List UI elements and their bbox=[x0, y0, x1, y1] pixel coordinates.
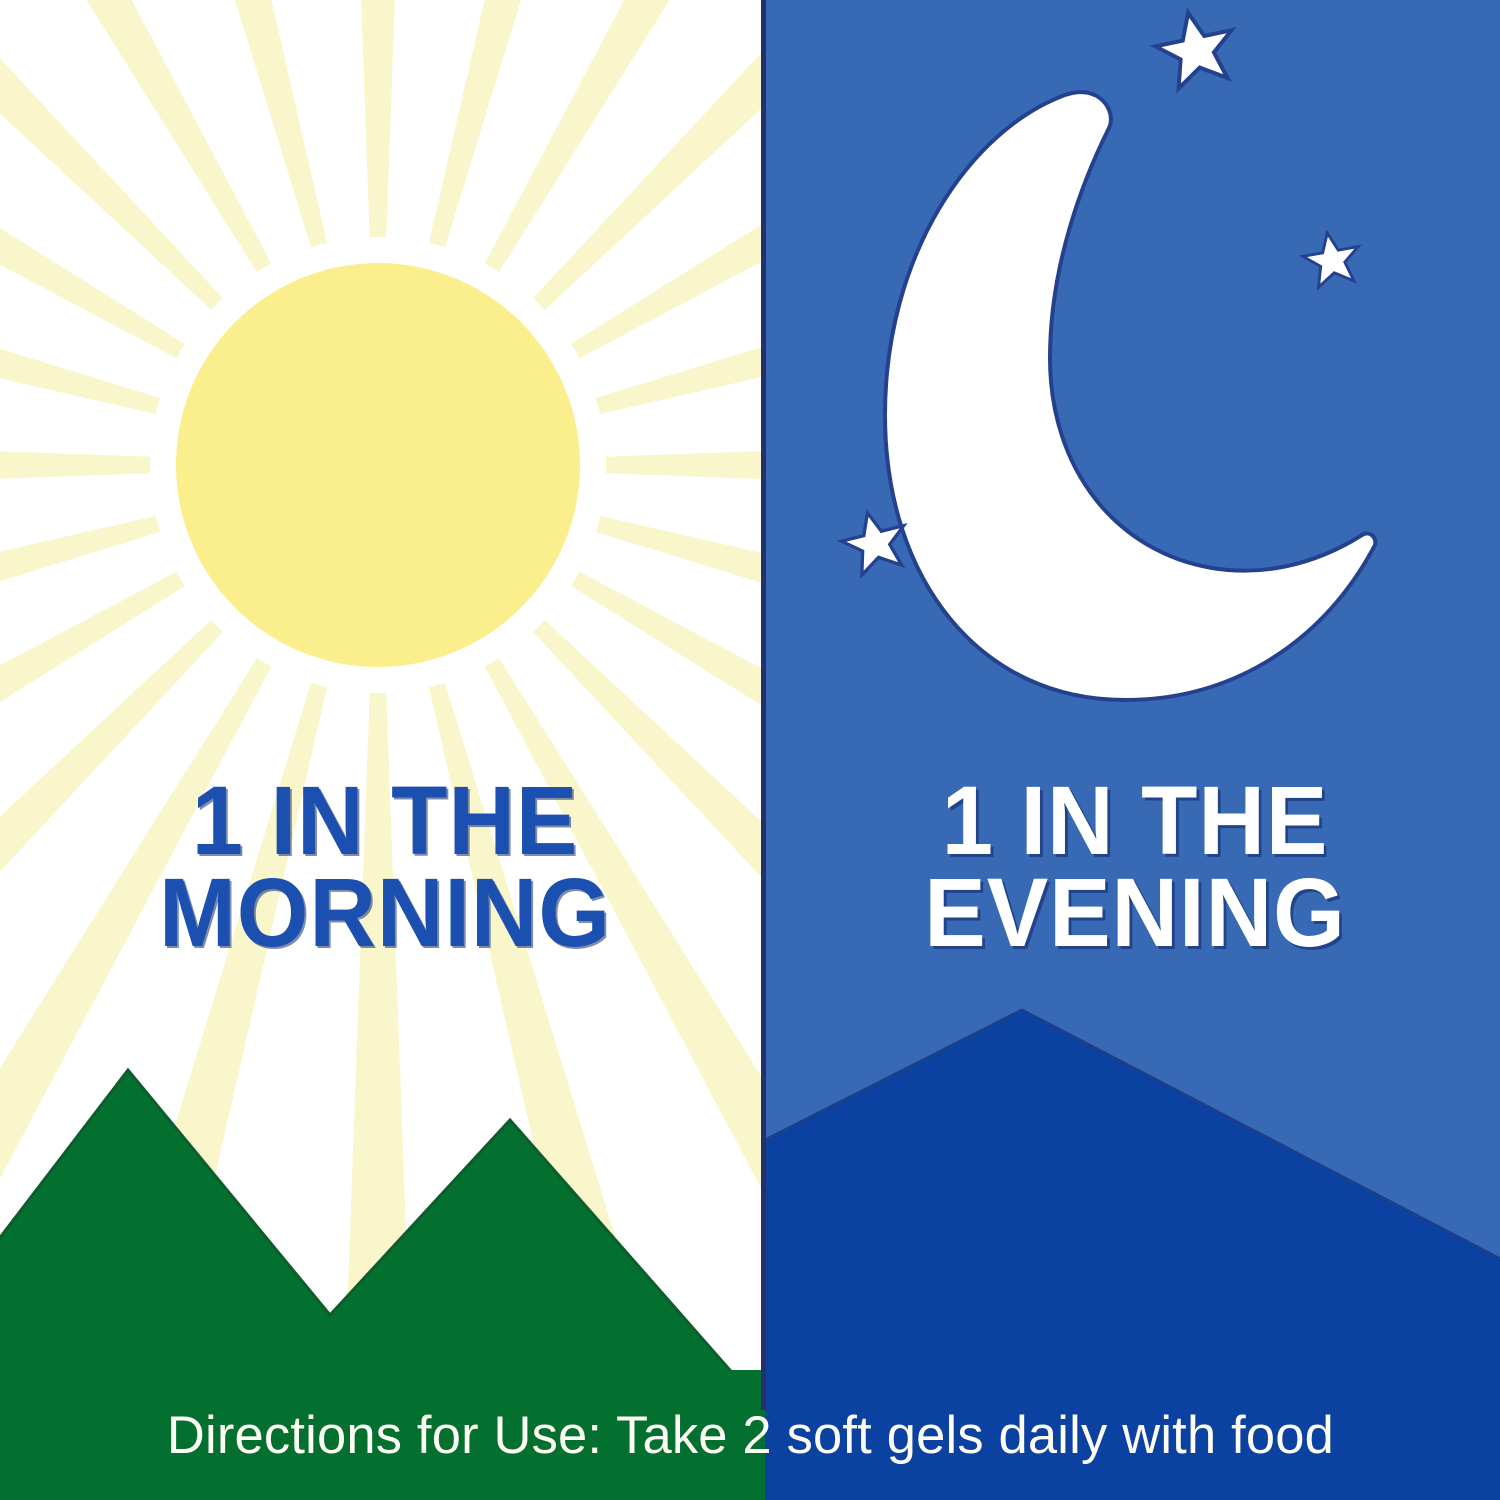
evening-headline: 1 IN THE EVENING bbox=[807, 775, 1463, 959]
directions-bar: Directions for Use: Take 2 soft gels dai… bbox=[0, 1370, 1500, 1500]
morning-headline: 1 IN THE MORNING bbox=[57, 775, 713, 959]
sun-icon bbox=[176, 263, 580, 667]
directions-text: Directions for Use: Take 2 soft gels dai… bbox=[166, 1405, 1333, 1466]
star-upper-right bbox=[1150, 5, 1241, 92]
dosage-infographic: 1 IN THE MORNING 1 IN THE EVENING Direct… bbox=[0, 0, 1500, 1500]
evening-panel bbox=[765, 0, 1500, 1500]
crescent-moon-icon bbox=[885, 92, 1375, 700]
sun-rays bbox=[0, 0, 765, 1410]
night-sky-art bbox=[765, 0, 1500, 1410]
morning-panel bbox=[0, 0, 765, 1500]
star-middle-right bbox=[1300, 228, 1364, 289]
panel-divider bbox=[761, 0, 766, 1410]
